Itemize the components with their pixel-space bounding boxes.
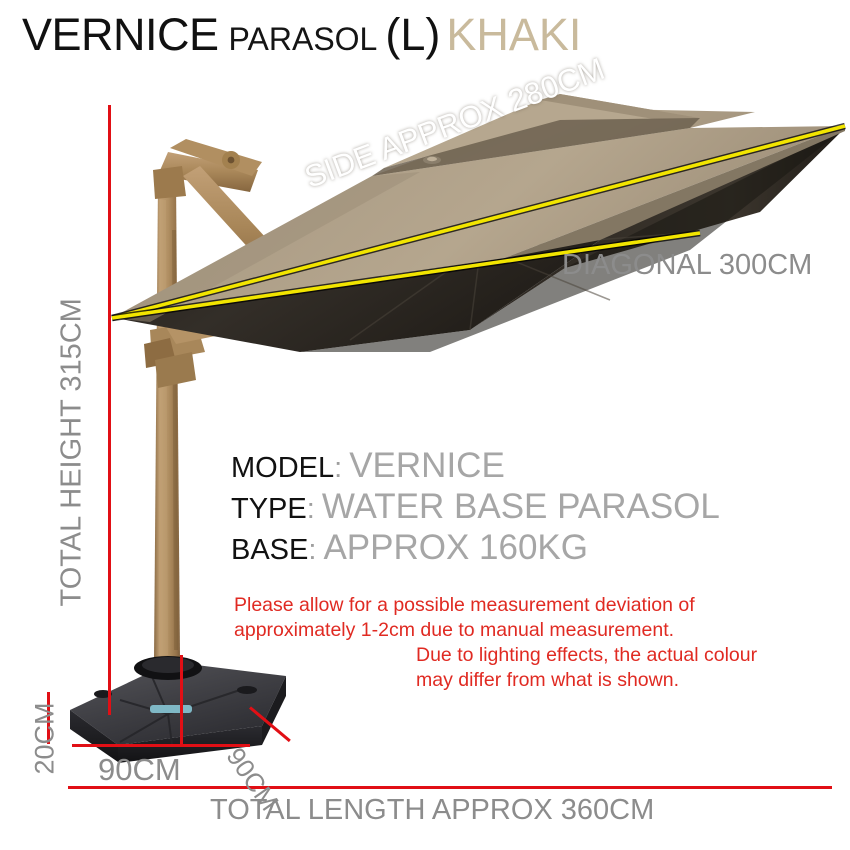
spec-value-type: WATER BASE PARASOL xyxy=(322,487,720,526)
colour-disclaimer: Due to lighting effects, the actual colo… xyxy=(416,643,757,693)
measurement-disclaimer-line1: Please allow for a possible measurement … xyxy=(234,593,695,618)
base-width-line xyxy=(72,744,250,747)
diagonal-length-label: DIAGONAL 300CM xyxy=(562,249,812,282)
parasol-pole xyxy=(154,180,180,660)
specification-list: MODEL:VERNICE TYPE:WATER BASE PARASOL BA… xyxy=(231,446,720,570)
measurement-disclaimer: Please allow for a possible measurement … xyxy=(234,593,695,643)
spec-row-type: TYPE:WATER BASE PARASOL xyxy=(231,487,720,526)
product-spec-sheet: VERNICEPARASOL(L)KHAKI xyxy=(0,0,850,850)
colour-disclaimer-line2: may differ from what is shown. xyxy=(416,668,757,693)
spec-value-model: VERNICE xyxy=(349,446,505,485)
total-height-label: TOTAL HEIGHT 315CM xyxy=(56,347,89,607)
spec-label-type: TYPE xyxy=(231,493,307,525)
base-center-line xyxy=(180,655,183,747)
spec-row-model: MODEL:VERNICE xyxy=(231,446,720,485)
total-length-line xyxy=(68,786,832,789)
spec-row-base: BASE:APPROX 160KG xyxy=(231,528,720,567)
total-height-line xyxy=(108,105,111,715)
spec-label-base: BASE xyxy=(231,534,308,566)
total-length-label: TOTAL LENGTH APPROX 360CM xyxy=(210,794,654,827)
colour-disclaimer-line1: Due to lighting effects, the actual colo… xyxy=(416,643,757,668)
measurement-disclaimer-line2: approximately 1-2cm due to manual measur… xyxy=(234,618,695,643)
base-height-label: 20CM xyxy=(30,691,61,787)
spec-separator-model: : xyxy=(334,452,342,484)
spec-separator-type: : xyxy=(307,493,315,525)
spec-separator-base: : xyxy=(308,534,316,566)
spec-label-model: MODEL xyxy=(231,452,334,484)
base-width-label: 90CM xyxy=(98,752,181,788)
spec-value-base: APPROX 160KG xyxy=(323,528,588,567)
